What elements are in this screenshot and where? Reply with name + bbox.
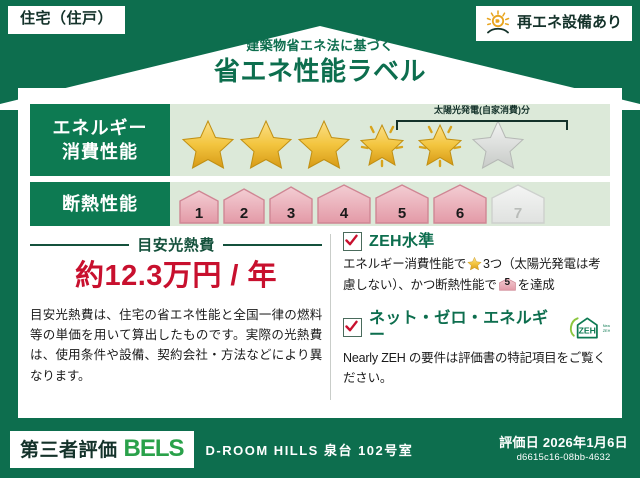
title-main: 省エネ性能ラベル: [0, 55, 640, 88]
badge-renewable-label: 再エネ設備あり: [517, 15, 622, 32]
svg-text:Nearly: Nearly: [602, 324, 610, 328]
energy-cost-note: 目安光熱費は、住宅の省エネ性能と全国一律の燃料等の単価を用いて算出したものです。…: [30, 305, 322, 386]
label-footer: 第三者評価 BELS D-ROOM HILLS 泉台 102号室 評価日 202…: [0, 420, 640, 478]
evaluation-info: 評価日 2026年1月6日 d6615c16-08bb-4632: [499, 435, 628, 463]
insulation-performance-label: 断熱性能: [30, 182, 170, 226]
zeh-standard-block: ZEH水準 エネルギー消費性能で3つ（太陽光発電は考慮しない）、かつ断熱性能で5…: [343, 232, 610, 296]
solar-note-label: 太陽光発電(自家消費)分: [392, 106, 572, 116]
rule-right: [223, 244, 322, 246]
bels-jp-label: 第三者評価: [20, 435, 118, 462]
insulation-chip-7-value: 7: [490, 205, 546, 222]
evaluation-date: 評価日 2026年1月6日: [499, 435, 628, 451]
bels-badge: 第三者評価 BELS: [10, 431, 194, 468]
solar-bracket: [396, 120, 568, 130]
energy-performance-row: エネルギー 消費性能 太陽光発電(自家消費)分: [30, 104, 610, 176]
energy-performance-label: 住宅（住戸） 再エネ設備あり 建築物省エネ法に基づく 省エネ性能ラベル: [0, 0, 640, 478]
property-name: D-ROOM HILLS 泉台 102号室: [206, 440, 414, 459]
insulation-chip-3: 3: [268, 185, 314, 225]
energy-cost-value: 約12.3万円 / 年: [30, 261, 322, 293]
energy-performance-label-line1: エネルギー: [53, 116, 148, 140]
evaluation-id: d6615c16-08bb-4632: [499, 452, 628, 463]
zeh-standard-heading: ZEH水準: [343, 232, 610, 251]
sun-icon: [484, 10, 512, 36]
zeh-body-part1: エネルギー消費性能で: [343, 257, 466, 271]
insulation-chip-5-value: 5: [374, 205, 430, 222]
badge-house-type: 住宅（住戸）: [8, 6, 125, 34]
insulation-chip-2: 2: [222, 187, 266, 225]
insulation-chips-panel: 1 2 3 4 5: [170, 182, 610, 226]
inline-insulation-chip-icon: 5: [499, 277, 516, 292]
bels-en-label: BELS: [124, 435, 184, 463]
rule-left: [30, 244, 129, 246]
detail-columns: 目安光熱費 約12.3万円 / 年 目安光熱費は、住宅の省エネ性能と全国一律の燃…: [30, 232, 610, 402]
zeh-standard-body: エネルギー消費性能で3つ（太陽光発電は考慮しない）、かつ断熱性能で5を達成: [343, 254, 610, 296]
check-icon: [343, 232, 362, 251]
energy-performance-stars-panel: 太陽光発電(自家消費)分: [170, 104, 610, 176]
star-icon-2: [238, 117, 294, 171]
insulation-chip-list: 1 2 3 4 5: [170, 183, 546, 225]
star-icon-1: [180, 117, 236, 171]
net-zero-energy-heading: ネット・ゼロ・エネルギー ZEH Nearly ZEH: [343, 310, 610, 345]
insulation-chip-1-value: 1: [178, 205, 220, 222]
star-icon-3: [296, 117, 352, 171]
svg-text:ZEH: ZEH: [578, 325, 595, 335]
energy-cost-column: 目安光熱費 約12.3万円 / 年 目安光熱費は、住宅の省エネ性能と全国一律の燃…: [30, 232, 330, 402]
zeh-house-logo-icon: ZEH Nearly ZEH: [568, 314, 610, 340]
net-zero-energy-body: Nearly ZEH の要件は評価書の特記項目をご覧ください。: [343, 348, 610, 390]
insulation-chip-1: 1: [178, 189, 220, 225]
insulation-chip-5: 5: [374, 183, 430, 225]
insulation-chip-7: 7: [490, 183, 546, 225]
zeh-standard-title: ZEH水準: [369, 233, 435, 251]
check-icon: [343, 318, 362, 337]
net-zero-energy-title: ネット・ゼロ・エネルギー: [369, 310, 558, 345]
insulation-chip-6: 6: [432, 183, 488, 225]
insulation-chip-4: 4: [316, 183, 372, 225]
insulation-chip-4-value: 4: [316, 205, 372, 222]
energy-cost-heading: 目安光熱費: [30, 234, 322, 255]
insulation-chip-3-value: 3: [268, 205, 314, 222]
zeh-column: ZEH水準 エネルギー消費性能で3つ（太陽光発電は考慮しない）、かつ断熱性能で5…: [341, 232, 610, 402]
svg-text:ZEH: ZEH: [602, 329, 610, 333]
badge-renewable-equipment: 再エネ設備あり: [476, 6, 632, 41]
energy-performance-label-line2: 消費性能: [62, 140, 138, 164]
column-divider: [330, 234, 331, 400]
energy-cost-heading-text: 目安光熱費: [137, 234, 215, 255]
label-content: エネルギー 消費性能 太陽光発電(自家消費)分: [18, 96, 622, 418]
net-zero-energy-block: ネット・ゼロ・エネルギー ZEH Nearly ZEH Nearly ZEH の…: [343, 310, 610, 390]
inline-chip-value: 5: [499, 275, 516, 292]
label-title: 建築物省エネ法に基づく 省エネ性能ラベル: [0, 38, 640, 87]
zeh-body-part3: を達成: [518, 278, 555, 292]
energy-performance-label: エネルギー 消費性能: [30, 104, 170, 176]
insulation-chip-2-value: 2: [222, 205, 266, 222]
insulation-chip-6-value: 6: [432, 205, 488, 222]
inline-star-icon: [467, 256, 482, 271]
insulation-performance-row: 断熱性能 1 2 3: [30, 182, 610, 226]
